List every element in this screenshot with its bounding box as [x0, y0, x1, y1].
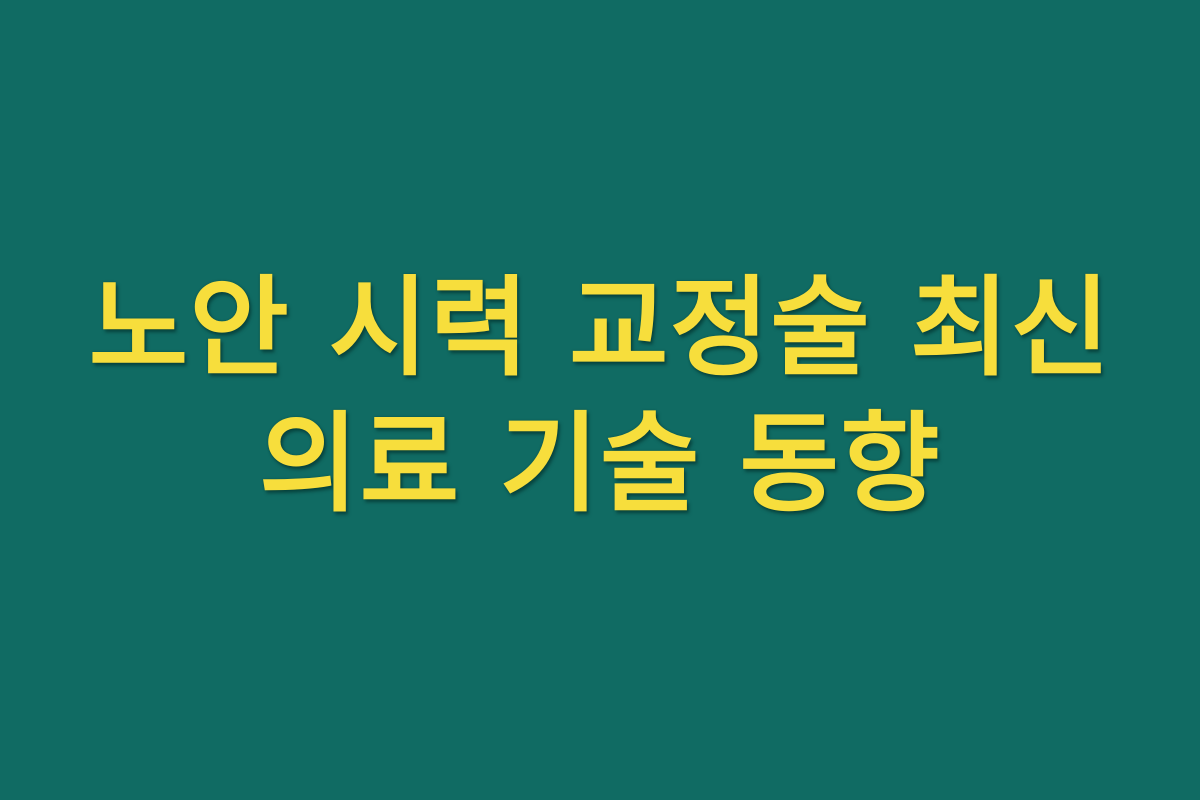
title-text-block: 노안 시력 교정술 최신 의료 기술 동향 — [0, 261, 1200, 533]
title-line-2: 의료 기술 동향 — [40, 397, 1160, 533]
title-line-1: 노안 시력 교정술 최신 — [40, 261, 1160, 397]
title-card: 노안 시력 교정술 최신 의료 기술 동향 — [0, 0, 1200, 800]
